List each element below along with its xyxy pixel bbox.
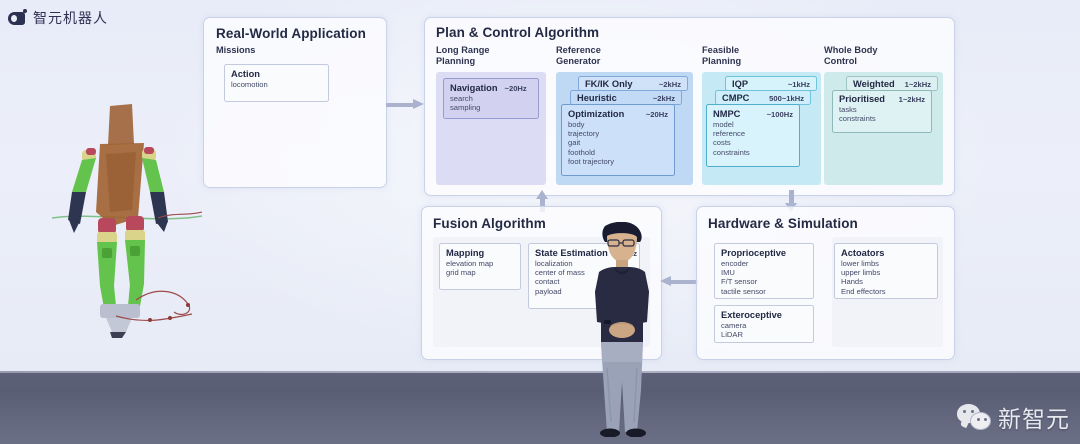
card-cmpc-freq: 500~1kHz — [769, 94, 804, 103]
group-sensors: Proprioceptive encoder IMU F/T sensor ta… — [708, 237, 826, 347]
group-feasible-planning: IQP ~1kHz CMPC 500~1kHz NMPC ~100Hz mode… — [702, 72, 821, 185]
card-prioritised-item-1: constraints — [839, 114, 925, 123]
card-navigation-item-1: sampling — [450, 103, 532, 112]
card-nmpc-item-3: constraints — [713, 148, 793, 157]
card-actoators-name: Actoators — [841, 248, 884, 258]
label-missions: Missions — [216, 45, 255, 55]
card-weighted[interactable]: Weighted 1~2kHz — [846, 76, 938, 91]
card-exteroceptive-item-1: LiDAR — [721, 330, 807, 339]
card-proprioceptive[interactable]: Proprioceptive encoder IMU F/T sensor ta… — [714, 243, 814, 299]
card-prioritised-freq: 1~2kHz — [899, 95, 925, 104]
card-exteroceptive-item-0: camera — [721, 321, 807, 330]
panel-hardware-simulation: Hardware & Simulation Proprioceptive enc… — [696, 206, 955, 360]
group-long-range-planning: Navigation ~20Hz search sampling — [436, 72, 546, 185]
col-title-reference-1: Reference — [556, 45, 601, 56]
card-actoators-item-2: Hands — [841, 277, 931, 286]
wechat-icon — [957, 404, 991, 430]
col-title-whole-body-1: Whole Body — [824, 45, 878, 56]
card-navigation-freq: ~20Hz — [505, 84, 527, 93]
card-nmpc-name: NMPC — [713, 109, 740, 119]
card-cmpc[interactable]: CMPC 500~1kHz — [715, 90, 811, 105]
card-mapping[interactable]: Mapping elevation map grid map — [439, 243, 521, 290]
card-proprioceptive-item-1: IMU — [721, 268, 807, 277]
card-actoators-item-0: lower limbs — [841, 259, 931, 268]
card-mapping-name: Mapping — [446, 248, 484, 258]
presenter-person — [575, 222, 670, 437]
card-actoators-item-3: End effectors — [841, 287, 931, 296]
presentation-stage: 智元机器人 — [0, 0, 1080, 444]
card-nmpc-item-2: costs — [713, 138, 793, 147]
card-exteroceptive-name: Exteroceptive — [721, 310, 782, 320]
panel-title-plan-control: Plan & Control Algorithm — [436, 25, 599, 40]
card-prioritised-name: Prioritised — [839, 94, 885, 104]
card-optimization-item-2: gait — [568, 138, 668, 147]
card-optimization[interactable]: Optimization ~20Hz body trajectory gait … — [561, 104, 675, 176]
col-title-long-range-1: Long Range — [436, 45, 490, 56]
panel-title-hardware: Hardware & Simulation — [708, 216, 858, 231]
card-actoators-item-1: upper limbs — [841, 268, 931, 277]
card-navigation[interactable]: Navigation ~20Hz search sampling — [443, 78, 539, 119]
col-title-feasible-1: Feasible — [702, 45, 741, 56]
watermark-text: 新智元 — [998, 400, 1070, 434]
card-iqp-freq: ~1kHz — [788, 80, 810, 89]
card-heuristic-freq: ~2kHz — [653, 94, 675, 103]
card-proprioceptive-item-0: encoder — [721, 259, 807, 268]
agibot-mark-icon — [8, 9, 27, 28]
card-proprioceptive-item-2: F/T sensor — [721, 277, 807, 286]
card-optimization-item-0: body — [568, 120, 668, 129]
card-nmpc-freq: ~100Hz — [767, 110, 793, 119]
brand-logo-text: 智元机器人 — [33, 8, 108, 28]
card-action[interactable]: Action locomotion — [224, 64, 329, 102]
card-weighted-freq: 1~2kHz — [905, 80, 931, 89]
card-prioritised[interactable]: Prioritised 1~2kHz tasks constraints — [832, 90, 932, 133]
panel-title-fusion: Fusion Algorithm — [433, 216, 546, 231]
card-heuristic[interactable]: Heuristic ~2kHz — [570, 90, 682, 105]
card-proprioceptive-name: Proprioceptive — [721, 248, 786, 258]
card-action-item-0: locomotion — [231, 80, 322, 89]
watermark: 新智元 — [957, 400, 1070, 434]
card-nmpc-item-0: model — [713, 120, 793, 129]
col-title-reference-2: Generator — [556, 56, 601, 67]
panel-real-world-application: Real-World Application Missions Action l… — [203, 17, 387, 188]
humanoid-robot-simulation — [52, 100, 202, 340]
card-optimization-freq: ~20Hz — [646, 110, 668, 119]
card-prioritised-item-0: tasks — [839, 105, 925, 114]
card-fk-ik-only[interactable]: FK/IK Only ~2kHz — [578, 76, 688, 91]
card-optimization-name: Optimization — [568, 109, 624, 119]
card-mapping-item-0: elevation map — [446, 259, 514, 268]
card-optimization-item-3: foothold — [568, 148, 668, 157]
group-whole-body-control: Weighted 1~2kHz Prioritised 1~2kHz tasks… — [824, 72, 943, 185]
card-optimization-item-4: foot trajectory — [568, 157, 668, 166]
card-exteroceptive[interactable]: Exteroceptive camera LiDAR — [714, 305, 814, 343]
card-proprioceptive-item-3: tactile sensor — [721, 287, 807, 296]
card-fk-ik-only-name: FK/IK Only — [585, 79, 633, 89]
group-reference-generator: FK/IK Only ~2kHz Heuristic ~2kHz Optimiz… — [556, 72, 693, 185]
panel-plan-control-algorithm: Plan & Control Algorithm Long Range Plan… — [424, 17, 955, 196]
col-title-whole-body-2: Control — [824, 56, 878, 67]
card-fk-ik-only-freq: ~2kHz — [659, 80, 681, 89]
card-heuristic-name: Heuristic — [577, 93, 617, 103]
stage-floor — [0, 373, 1080, 444]
brand-logo: 智元机器人 — [8, 8, 108, 28]
card-iqp-name: IQP — [732, 79, 748, 89]
col-title-feasible-2: Planning — [702, 56, 741, 67]
card-nmpc-item-1: reference — [713, 129, 793, 138]
card-weighted-name: Weighted — [853, 79, 895, 89]
card-cmpc-name: CMPC — [722, 93, 749, 103]
card-navigation-item-0: search — [450, 94, 532, 103]
card-action-name: Action — [231, 69, 260, 79]
arrow-realworld-to-plan — [386, 99, 424, 110]
card-nmpc[interactable]: NMPC ~100Hz model reference costs constr… — [706, 104, 800, 167]
card-mapping-item-1: grid map — [446, 268, 514, 277]
panel-title-real-world: Real-World Application — [216, 26, 366, 41]
col-title-long-range-2: Planning — [436, 56, 490, 67]
card-actoators[interactable]: Actoators lower limbs upper limbs Hands … — [834, 243, 938, 299]
card-navigation-name: Navigation — [450, 83, 498, 93]
card-optimization-item-1: trajectory — [568, 129, 668, 138]
card-iqp[interactable]: IQP ~1kHz — [725, 76, 817, 91]
group-actuators: Actoators lower limbs upper limbs Hands … — [832, 237, 943, 347]
